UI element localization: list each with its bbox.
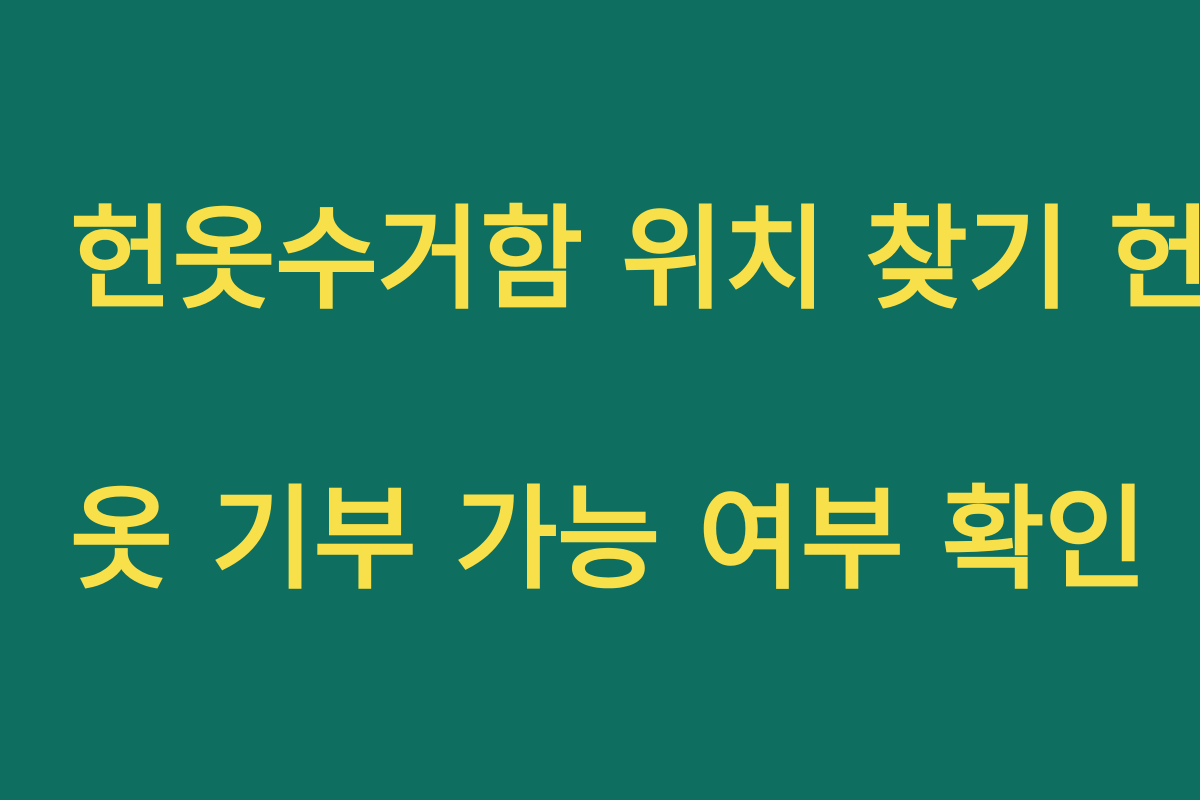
- headline-line-2: 옷 기부 가능 여부 확인: [70, 470, 1130, 610]
- poster-canvas: 헌옷수거함 위치 찾기 헌 옷 기부 가능 여부 확인: [0, 0, 1200, 800]
- page-title: 헌옷수거함 위치 찾기 헌 옷 기부 가능 여부 확인: [70, 50, 1130, 750]
- headline-line-1: 헌옷수거함 위치 찾기 헌: [70, 190, 1130, 330]
